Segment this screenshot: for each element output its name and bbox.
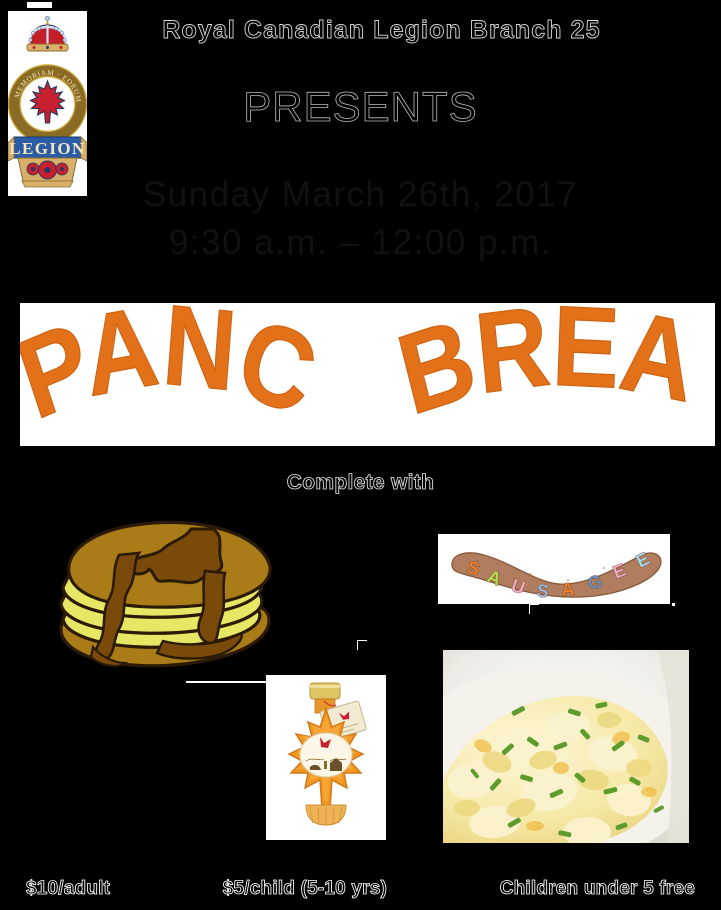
placeholder-rule-artifact [186, 681, 268, 683]
pancake-breakfast-banner: PANCAKE BREAKFAST [20, 303, 715, 446]
scrambled-eggs-photo-icon [443, 650, 689, 843]
maple-syrup-image [266, 675, 386, 840]
pricing-row: $10/adult $5/child (5-10 yrs) Children u… [0, 878, 721, 900]
top-white-tab-artifact [27, 2, 52, 8]
presents-label: PRESENTS [0, 83, 721, 131]
scrambled-eggs-image [443, 650, 689, 843]
event-date: Sunday March 26th, 2017 [0, 175, 721, 215]
complete-with-label: Complete with [0, 471, 721, 495]
maple-syrup-bottle-icon [266, 675, 386, 840]
sausage-image: S A U S A G E E [438, 534, 670, 604]
svg-text:LEGION: LEGION [9, 139, 85, 158]
price-child: $5/child (5-10 yrs) [223, 878, 387, 900]
pancakes-clipart-icon [45, 515, 305, 680]
placeholder-corner-mark-left [357, 640, 367, 650]
svg-text:A: A [560, 579, 575, 600]
sausage-clipart-icon: S A U S A G E E [438, 534, 670, 604]
wordart-banner-icon: PANCAKE BREAKFAST [20, 303, 715, 446]
placeholder-dot-artifact [672, 603, 675, 606]
price-under-5: Children under 5 free [500, 878, 695, 900]
pancake-breakfast-poster: MEMORIAM · EORUM · RETINEBIMUS LEGION Ro… [0, 0, 721, 910]
price-adult: $10/adult [26, 878, 110, 900]
placeholder-corner-mark-right [529, 604, 539, 614]
branch-title: Royal Canadian Legion Branch 25 [0, 16, 721, 45]
event-time: 9:30 a.m. – 12:00 p.m. [0, 223, 721, 263]
